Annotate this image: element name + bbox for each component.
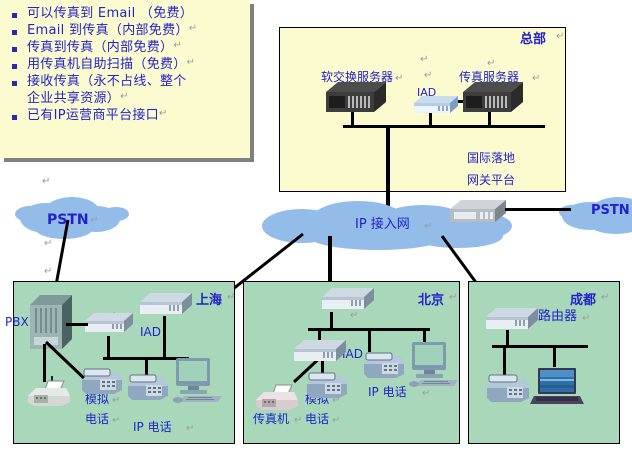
fax-machine-label-beijing: 传真机 — [253, 412, 289, 426]
list-item: Email 到传真（内部免费） ↵ — [6, 23, 246, 39]
pilcrow-icon: ↵ — [227, 292, 235, 303]
pilcrow-icon: ↵ — [556, 31, 564, 42]
hq-backbone-bus — [343, 125, 545, 128]
hq-faxserver-drop — [488, 110, 491, 126]
pilcrow-icon: ↵ — [420, 54, 428, 65]
router-label-chengdu: 路由器 — [538, 310, 577, 324]
bullet-spacer-icon — [12, 98, 17, 103]
bullet-icon — [12, 47, 17, 52]
pilcrow-icon: ↵ — [42, 176, 50, 187]
feature-text: 企业共享资源） — [27, 91, 120, 107]
pilcrow-icon: ↵ — [582, 313, 590, 324]
hq-iad-icon — [414, 96, 458, 116]
site-box-chengdu — [468, 281, 620, 444]
headquarters-title: 总部 — [520, 28, 546, 47]
fax-server-icon — [463, 82, 523, 112]
pilcrow-icon: ↵ — [487, 58, 495, 69]
pbx-label: PBX — [5, 315, 29, 329]
pstn-right-label: PSTN — [591, 203, 630, 218]
list-item: 已有IP运营商平台接口 ↵ — [6, 108, 246, 124]
beijing-uplink-iad-icon — [322, 288, 374, 312]
feature-callout-box: 可以传真到 Email （免费） Email 到传真（内部免费） ↵ 传真到传真… — [0, 0, 250, 158]
shanghai-iad-drop — [107, 336, 110, 358]
chengdu-lan-bus — [492, 345, 588, 348]
pilcrow-icon: ↵ — [112, 415, 120, 426]
analog-phone-icon-beijing — [303, 370, 347, 400]
analog-phone-label-line2-shanghai: 电话 — [85, 412, 109, 426]
gateway-platform-label-line1: 国际落地 — [467, 151, 515, 165]
bullet-icon — [12, 30, 17, 35]
ip-phone-icon-beijing — [360, 350, 404, 380]
ip-phone-label-shanghai: IP 电话 — [133, 420, 172, 434]
pilcrow-icon: ↵ — [159, 108, 167, 119]
fax-machine-icon-beijing — [254, 380, 300, 412]
pilcrow-icon: ↵ — [187, 57, 195, 68]
desktop-computer-icon-shanghai — [170, 356, 226, 404]
shanghai-uplink-iad-icon — [140, 293, 192, 317]
analog-phone-label-line2-beijing: 电话 — [305, 412, 329, 426]
bullet-icon — [12, 115, 17, 120]
gateway-to-pstn-right-link — [505, 208, 571, 211]
site-title-chengdu: 成都 — [570, 289, 596, 308]
pilcrow-icon: ↵ — [112, 395, 120, 406]
feature-text: 用传真机自助扫描（免费） — [27, 57, 187, 73]
chengdu-phone-drop — [503, 347, 506, 375]
list-item-continuation: 企业共享资源） ↵ — [6, 91, 246, 107]
site-title-shanghai: 上海 — [196, 289, 222, 308]
pilcrow-icon: ↵ — [332, 415, 340, 426]
bullet-icon — [12, 13, 17, 18]
pilcrow-icon: ↵ — [424, 221, 432, 232]
pilcrow-icon: ↵ — [120, 91, 128, 102]
pilcrow-icon: ↵ — [449, 292, 457, 303]
site-title-beijing: 北京 — [418, 289, 444, 308]
hq-softswitch-drop — [351, 110, 354, 126]
softswitch-server-icon — [326, 82, 386, 112]
ip-cloud-to-beijing-link — [328, 236, 332, 286]
pilcrow-icon: ↵ — [601, 292, 609, 303]
ip-access-label: IP 接入网 — [355, 218, 410, 232]
beijing-analog-drop — [368, 330, 371, 352]
analog-phone-icon-shanghai — [78, 366, 122, 396]
pilcrow-icon: ↵ — [186, 423, 194, 434]
feature-text: 已有IP运营商平台接口 — [27, 108, 159, 124]
feature-text: 传真到传真（内部免费） — [27, 40, 173, 56]
pilcrow-icon: ↵ — [395, 73, 403, 84]
shanghai-iad-icon-left — [85, 313, 133, 335]
phone-icon-chengdu — [483, 372, 529, 404]
feature-text: 可以传真到 Email （免费） — [27, 6, 193, 22]
ip-phone-icon-shanghai — [124, 372, 168, 402]
pilcrow-icon: ↵ — [424, 70, 432, 81]
laptop-icon-chengdu — [530, 366, 584, 408]
beijing-iad-icon — [294, 340, 346, 364]
chengdu-laptop-drop — [553, 347, 556, 367]
pilcrow-icon: ↵ — [294, 415, 302, 426]
pilcrow-icon: ↵ — [173, 40, 181, 51]
router-icon-chengdu — [486, 308, 538, 332]
shanghai-uplink-drop — [163, 316, 166, 358]
pilcrow-icon: ↵ — [532, 73, 540, 84]
feature-list: 可以传真到 Email （免费） Email 到传真（内部免费） ↵ 传真到传真… — [0, 0, 250, 124]
desktop-computer-icon-beijing — [406, 340, 462, 388]
pilcrow-icon: ↵ — [422, 388, 430, 399]
bullet-icon — [12, 64, 17, 69]
fax-machine-icon-shanghai — [26, 376, 72, 408]
shanghai-iad-label: IAD — [140, 325, 161, 339]
bullet-icon — [12, 81, 17, 86]
feature-text: Email 到传真（内部免费） — [27, 23, 189, 39]
ip-phone-label-beijing: IP 电话 — [368, 385, 407, 399]
gateway-router-icon — [450, 200, 506, 226]
list-item: 用传真机自助扫描（免费） ↵ — [6, 57, 246, 73]
pilcrow-icon: ↵ — [189, 23, 197, 34]
gateway-platform-label-line2: 网关平台 — [467, 173, 515, 187]
feature-text: 接收传真（永不占线、整个 — [27, 74, 187, 90]
chengdu-router-drop — [506, 330, 509, 346]
list-item: 可以传真到 Email （免费） — [6, 6, 246, 22]
pbx-to-iad-link — [66, 323, 88, 326]
list-item: 接收传真（永不占线、整个 — [6, 74, 246, 90]
list-item: 传真到传真（内部免费） ↵ — [6, 40, 246, 56]
